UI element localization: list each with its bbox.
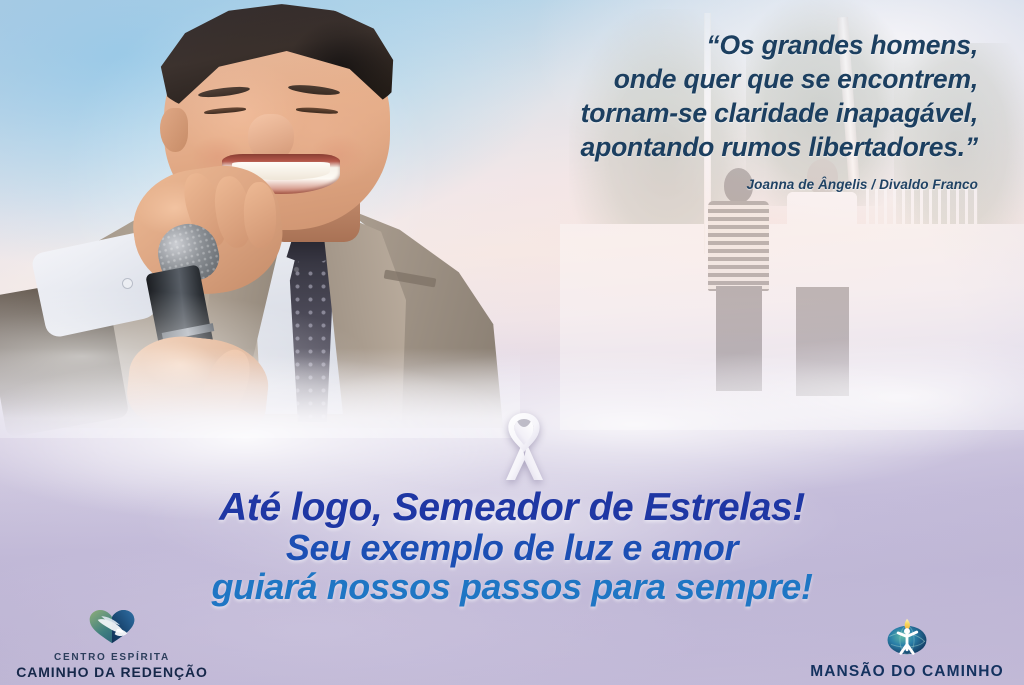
quote-line-3: tornam-se claridade inapagável,	[418, 96, 978, 130]
tagline-block: Até logo, Semeador de Estrelas! Seu exem…	[0, 487, 1024, 607]
logo-mansao-do-caminho[interactable]: MANSÃO DO CAMINHO	[804, 617, 1010, 681]
person-striped-shirt	[708, 168, 768, 392]
tagline-line-3: guiará nossos passos para sempre!	[0, 567, 1024, 607]
quote-line-1: “Os grandes homens,	[418, 28, 978, 62]
quote-block: “Os grandes homens, onde quer que se enc…	[418, 28, 978, 192]
tagline-line-1: Até logo, Semeador de Estrelas!	[0, 487, 1024, 528]
logo-left-line-1: CENTRO ESPÍRITA	[14, 652, 210, 664]
person-legs	[716, 286, 762, 391]
tagline-line-2: Seu exemplo de luz e amor	[0, 528, 1024, 567]
heart-hands-icon	[14, 609, 210, 650]
quote-line-2: onde quer que se encontrem,	[418, 62, 978, 96]
person-torso	[708, 201, 768, 290]
globe-figure-flame-icon	[804, 617, 1010, 661]
portrait-bottom-fade	[0, 348, 520, 438]
quote-line-4: apontando rumos libertadores.”	[418, 130, 978, 164]
awareness-ribbon-icon	[496, 410, 552, 482]
logo-centro-espirita-caminho-da-redencao[interactable]: CENTRO ESPÍRITA CAMINHO DA REDENÇÃO	[14, 609, 210, 681]
memorial-tribute-banner: “Os grandes homens, onde quer que se enc…	[0, 0, 1024, 685]
logo-left-line-2: CAMINHO DA REDENÇÃO	[14, 664, 210, 681]
logo-right-line-1: MANSÃO DO CAMINHO	[804, 663, 1010, 681]
ear	[160, 108, 188, 152]
person-torso	[787, 192, 857, 291]
person-legs	[796, 287, 849, 396]
quote-attribution: Joanna de Ângelis / Divaldo Franco	[418, 177, 978, 192]
person-white-shirt	[787, 159, 857, 396]
cuff-button	[122, 278, 133, 289]
